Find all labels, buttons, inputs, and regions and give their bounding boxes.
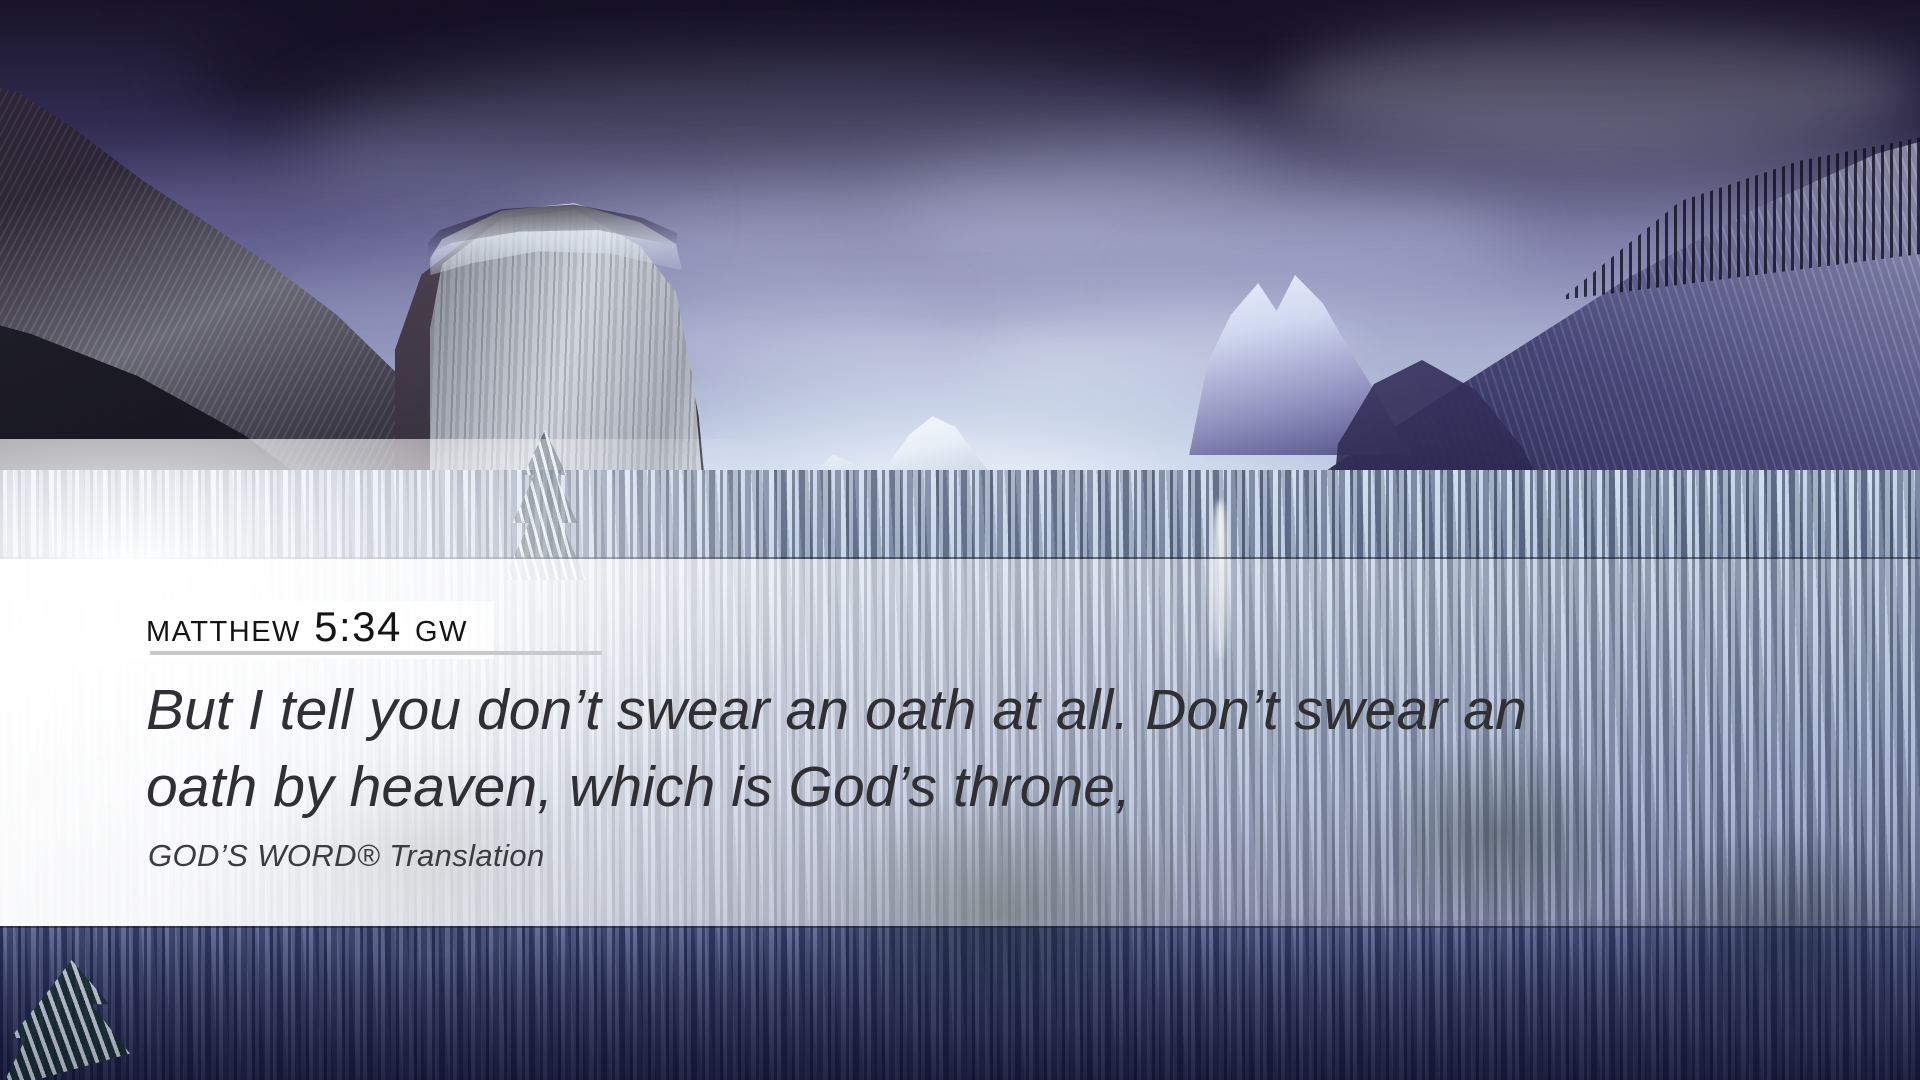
verse-text: But I tell you don’t swear an oath at al…: [146, 672, 1786, 826]
verse-content: Matthew 5:34 GW But I tell you don’t swe…: [0, 0, 1920, 1080]
verse-reference: Matthew 5:34 GW: [146, 605, 468, 649]
screenshot-canvas: Matthew 5:34 GW But I tell you don’t swe…: [0, 0, 1920, 1080]
verse-reference-underline: [150, 651, 602, 655]
translation-credit: GOD’S WORD® Translation: [148, 838, 545, 874]
verse-line-2: oath by heaven, which is God’s throne,: [146, 749, 1786, 826]
verse-line-1: But I tell you don’t swear an oath at al…: [146, 672, 1786, 749]
